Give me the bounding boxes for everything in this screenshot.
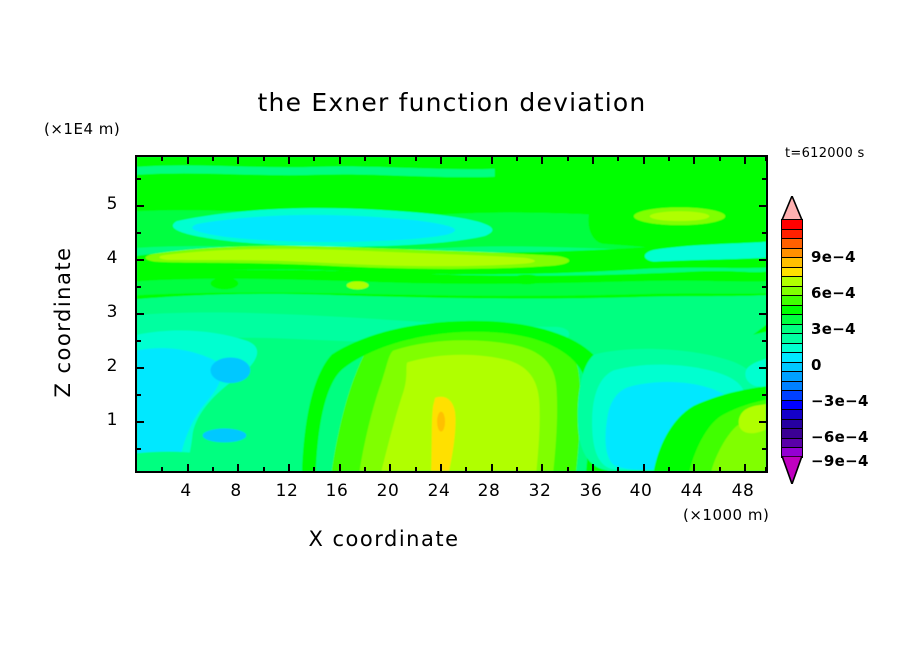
y-tick-4	[137, 259, 144, 261]
x-tick-24	[440, 464, 442, 471]
x-tick-16	[339, 464, 341, 471]
x-tick-top	[744, 157, 746, 164]
y-tick-label: 5	[88, 194, 118, 214]
chart-title: the Exner function deviation	[0, 88, 904, 117]
chart-canvas: the Exner function deviation (×1E4 m) t=…	[0, 0, 904, 654]
x-tick-label: 32	[518, 481, 562, 501]
x-tick-12	[288, 464, 290, 471]
x-tick-minor	[364, 467, 366, 471]
colorbar-under-arrow	[781, 456, 803, 484]
y-tick-minor-right	[762, 232, 766, 234]
x-tick-28	[491, 464, 493, 471]
x-tick-minor	[465, 467, 467, 471]
colorbar-label: 0	[811, 356, 822, 374]
x-tick-top	[288, 157, 290, 164]
y-tick-label: 1	[88, 410, 118, 430]
x-tick-label: 24	[417, 481, 461, 501]
x-tick-label: 4	[164, 481, 208, 501]
y-tick-minor-right	[762, 394, 766, 396]
y-tick-label: 3	[88, 302, 118, 322]
x-tick-top	[693, 157, 695, 164]
x-tick-minor	[567, 467, 569, 471]
x-tick-label: 44	[670, 481, 714, 501]
y-tick-right	[759, 421, 766, 423]
x-tick-minor	[719, 467, 721, 471]
y-tick-minor	[137, 394, 141, 396]
x-tick-minor-top	[313, 157, 315, 161]
x-tick-minor	[415, 467, 417, 471]
x-tick-8	[237, 464, 239, 471]
x-tick-4	[187, 464, 189, 471]
x-tick-top	[187, 157, 189, 164]
y-tick-minor	[137, 340, 141, 342]
x-tick-36	[592, 464, 594, 471]
y-tick-minor-right	[762, 448, 766, 450]
x-tick-minor	[263, 467, 265, 471]
x-tick-label: 20	[366, 481, 410, 501]
y-tick-minor	[137, 286, 141, 288]
x-tick-44	[693, 464, 695, 471]
y-axis-unit-label: (×1E4 m)	[44, 120, 120, 138]
colorbar-label: −6e−4	[811, 428, 869, 446]
x-tick-minor-top	[212, 157, 214, 161]
x-axis-title: X coordinate	[0, 527, 768, 551]
x-tick-minor-top	[617, 157, 619, 161]
contour-field	[137, 157, 766, 471]
x-tick-top	[339, 157, 341, 164]
y-tick-label: 2	[88, 356, 118, 376]
colorbar-over-arrow	[781, 196, 803, 220]
x-tick-minor	[765, 467, 767, 471]
x-tick-minor	[313, 467, 315, 471]
x-tick-label: 12	[265, 481, 309, 501]
y-axis-title: Z coordinate	[51, 232, 75, 412]
y-tick-1	[137, 421, 144, 423]
x-tick-minor	[617, 467, 619, 471]
x-tick-minor-top	[765, 157, 767, 161]
y-tick-minor	[137, 232, 141, 234]
colorbar-label: −9e−4	[811, 452, 869, 470]
y-tick-right	[759, 259, 766, 261]
colorbar	[781, 219, 803, 457]
y-tick-minor-right	[762, 340, 766, 342]
x-tick-label: 40	[619, 481, 663, 501]
x-tick-top	[389, 157, 391, 164]
x-tick-minor-top	[161, 157, 163, 161]
x-tick-label: 28	[467, 481, 511, 501]
x-tick-minor	[668, 467, 670, 471]
x-tick-minor-top	[364, 157, 366, 161]
x-tick-minor	[161, 467, 163, 471]
x-tick-top	[541, 157, 543, 164]
colorbar-label: −3e−4	[811, 392, 869, 410]
x-tick-top	[643, 157, 645, 164]
x-tick-label: 8	[214, 481, 258, 501]
x-tick-minor-top	[516, 157, 518, 161]
x-tick-label: 48	[721, 481, 765, 501]
y-tick-right	[759, 367, 766, 369]
x-tick-minor-top	[415, 157, 417, 161]
x-tick-top	[440, 157, 442, 164]
x-axis-unit-label: (×1000 m)	[683, 506, 769, 524]
x-tick-top	[592, 157, 594, 164]
x-tick-top	[237, 157, 239, 164]
y-tick-3	[137, 313, 144, 315]
x-tick-label: 36	[569, 481, 613, 501]
x-tick-minor-top	[465, 157, 467, 161]
x-tick-20	[389, 464, 391, 471]
time-annotation: t=612000 s	[785, 146, 865, 161]
y-tick-minor-right	[762, 178, 766, 180]
colorbar-label: 6e−4	[811, 284, 856, 302]
x-tick-48	[744, 464, 746, 471]
x-tick-32	[541, 464, 543, 471]
x-tick-label: 16	[315, 481, 359, 501]
x-tick-minor-top	[567, 157, 569, 161]
x-tick-minor	[212, 467, 214, 471]
y-tick-2	[137, 367, 144, 369]
colorbar-label: 9e−4	[811, 248, 856, 266]
x-tick-40	[643, 464, 645, 471]
y-tick-minor	[137, 448, 141, 450]
x-tick-minor	[516, 467, 518, 471]
contour-plot-area	[135, 155, 768, 473]
x-tick-minor-top	[719, 157, 721, 161]
y-tick-right	[759, 313, 766, 315]
y-tick-minor-right	[762, 286, 766, 288]
x-tick-top	[491, 157, 493, 164]
x-tick-minor-top	[668, 157, 670, 161]
y-tick-label: 4	[88, 248, 118, 268]
y-tick-minor	[137, 178, 141, 180]
x-tick-minor-top	[263, 157, 265, 161]
y-tick-right	[759, 205, 766, 207]
y-tick-5	[137, 205, 144, 207]
colorbar-label: 3e−4	[811, 320, 856, 338]
